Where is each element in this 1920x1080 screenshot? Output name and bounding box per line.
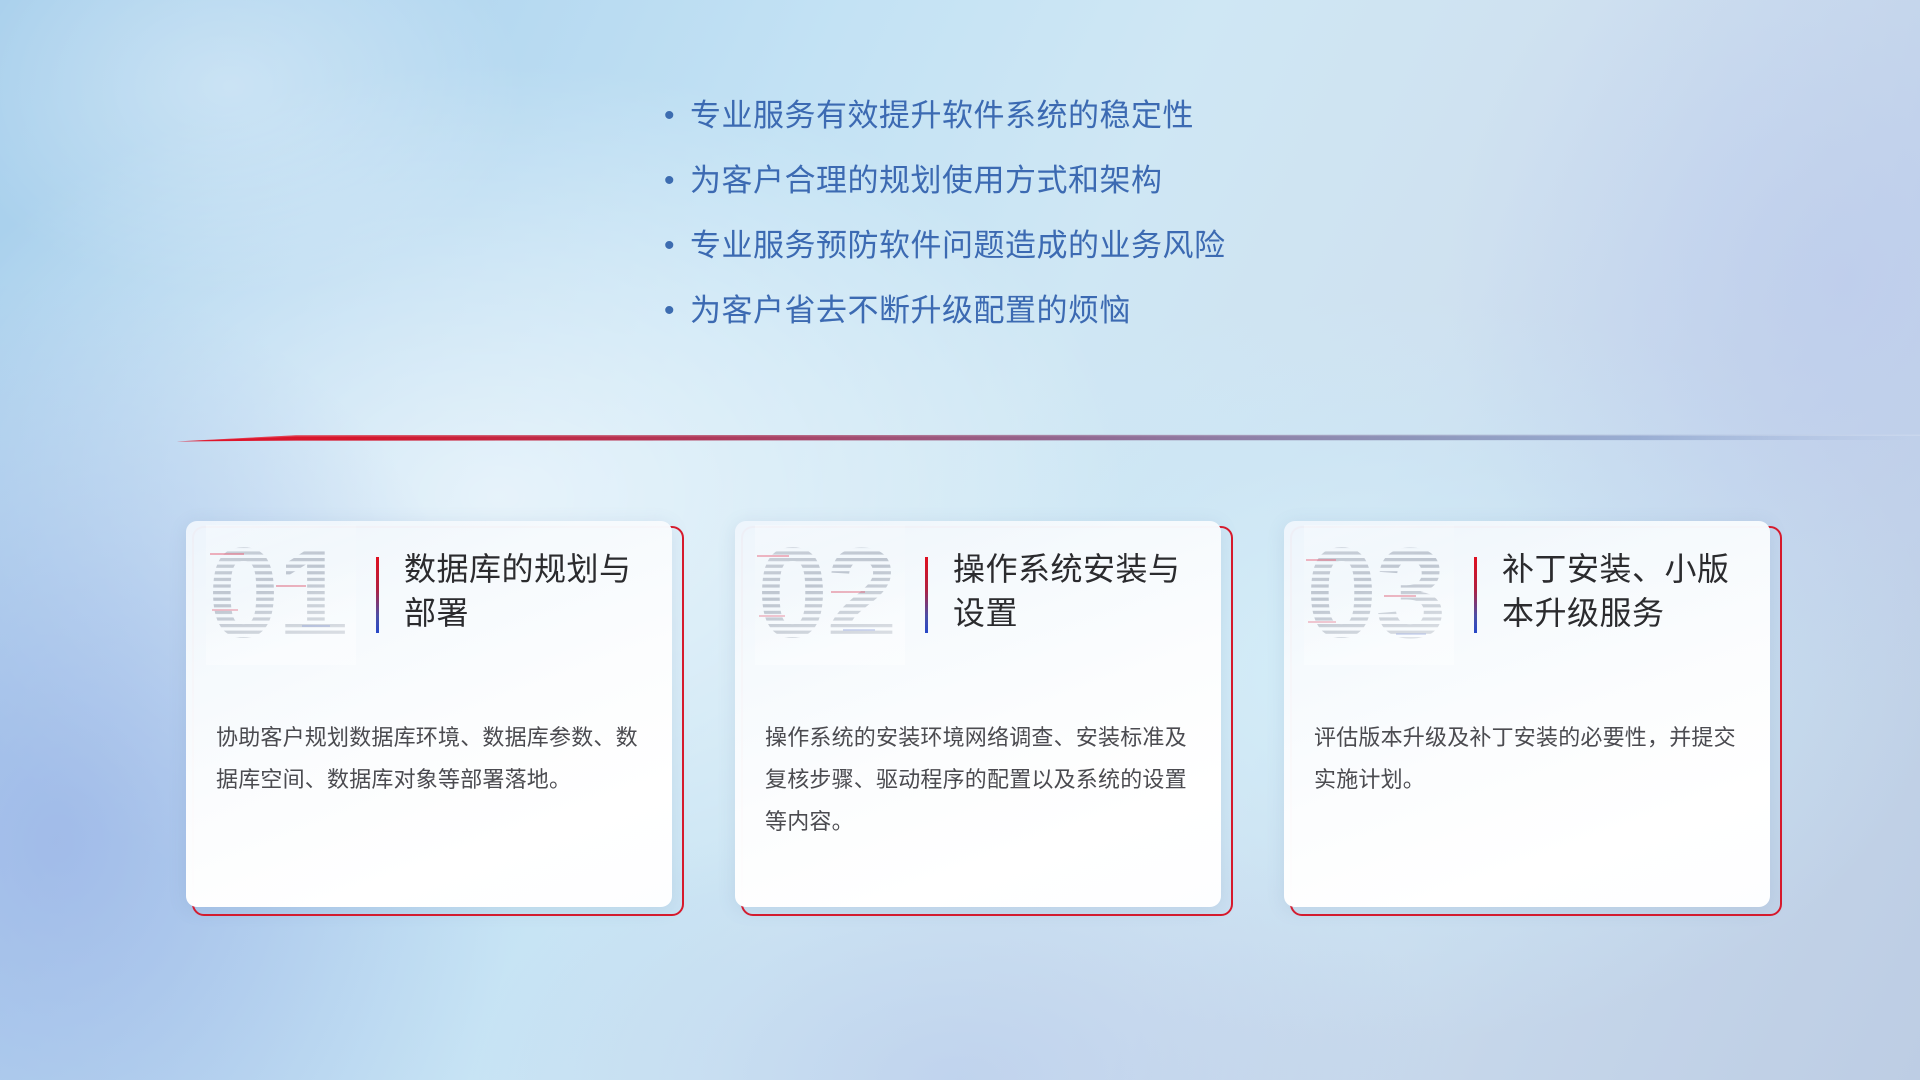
striped-numeral-shape: 01	[206, 525, 356, 665]
striped-numeral-shape: 03	[1304, 525, 1454, 665]
card-title-divider	[376, 557, 379, 633]
card-title-divider	[925, 557, 928, 633]
bullet-dot-icon: •	[660, 291, 690, 331]
card-title-divider	[1474, 557, 1477, 633]
card-header: 02 操作系统安装与设置	[735, 521, 1221, 671]
bullet-item-label: 专业服务有效提升软件系统的稳定性	[690, 96, 1194, 136]
slide-root: • 专业服务有效提升软件系统的稳定性 • 为客户合理的规划使用方式和架构 • 专…	[0, 0, 1920, 1080]
card-header: 03 补丁安装、小版本升级服务	[1284, 521, 1770, 671]
card-panel: 01 数据库的规划与部署 协助客户规划数据库环境、数据库参数、数据库空间、数据库…	[186, 521, 672, 907]
card-panel: 02 操作系统安装与设置 操作系统的安装环境网络调查、安装标准及复核步骤、驱动程…	[735, 521, 1221, 907]
card-title: 补丁安装、小版本升级服务	[1502, 547, 1754, 635]
benefits-bullet-list: • 专业服务有效提升软件系统的稳定性 • 为客户合理的规划使用方式和架构 • 专…	[660, 96, 1560, 356]
card-number-02-icon: 02	[755, 525, 905, 665]
bullet-dot-icon: •	[660, 161, 690, 201]
card-number-01-icon: 01	[206, 525, 356, 665]
bullet-dot-icon: •	[660, 96, 690, 136]
section-divider	[176, 424, 1920, 448]
card-title: 操作系统安装与设置	[953, 547, 1205, 635]
card-description: 评估版本升级及补丁安装的必要性，并提交实施计划。	[1314, 717, 1744, 801]
bullet-item: • 为客户合理的规划使用方式和架构	[660, 161, 1560, 226]
striped-numeral-shape: 02	[755, 525, 905, 665]
card-title: 数据库的规划与部署	[404, 547, 656, 635]
section-divider-shape	[176, 424, 1920, 448]
bullet-item: • 为客户省去不断升级配置的烦恼	[660, 291, 1560, 356]
bullet-item: • 专业服务预防软件问题造成的业务风险	[660, 226, 1560, 291]
card-description: 协助客户规划数据库环境、数据库参数、数据库空间、数据库对象等部署落地。	[216, 717, 646, 801]
service-card[interactable]: 01 数据库的规划与部署 协助客户规划数据库环境、数据库参数、数据库空间、数据库…	[186, 521, 678, 913]
bullet-item-label: 为客户省去不断升级配置的烦恼	[690, 291, 1131, 331]
bullet-item: • 专业服务有效提升软件系统的稳定性	[660, 96, 1560, 161]
service-card[interactable]: 03 补丁安装、小版本升级服务 评估版本升级及补丁安装的必要性，并提交实施计划。	[1284, 521, 1776, 913]
bullet-dot-icon: •	[660, 226, 690, 266]
bullet-item-label: 为客户合理的规划使用方式和架构	[690, 161, 1163, 201]
service-card-group: 01 数据库的规划与部署 协助客户规划数据库环境、数据库参数、数据库空间、数据库…	[186, 521, 1776, 913]
service-card[interactable]: 02 操作系统安装与设置 操作系统的安装环境网络调查、安装标准及复核步骤、驱动程…	[735, 521, 1227, 913]
card-panel: 03 补丁安装、小版本升级服务 评估版本升级及补丁安装的必要性，并提交实施计划。	[1284, 521, 1770, 907]
bullet-item-label: 专业服务预防软件问题造成的业务风险	[690, 226, 1226, 266]
card-header: 01 数据库的规划与部署	[186, 521, 672, 671]
card-description: 操作系统的安装环境网络调查、安装标准及复核步骤、驱动程序的配置以及系统的设置等内…	[765, 717, 1195, 843]
card-number-03-icon: 03	[1304, 525, 1454, 665]
